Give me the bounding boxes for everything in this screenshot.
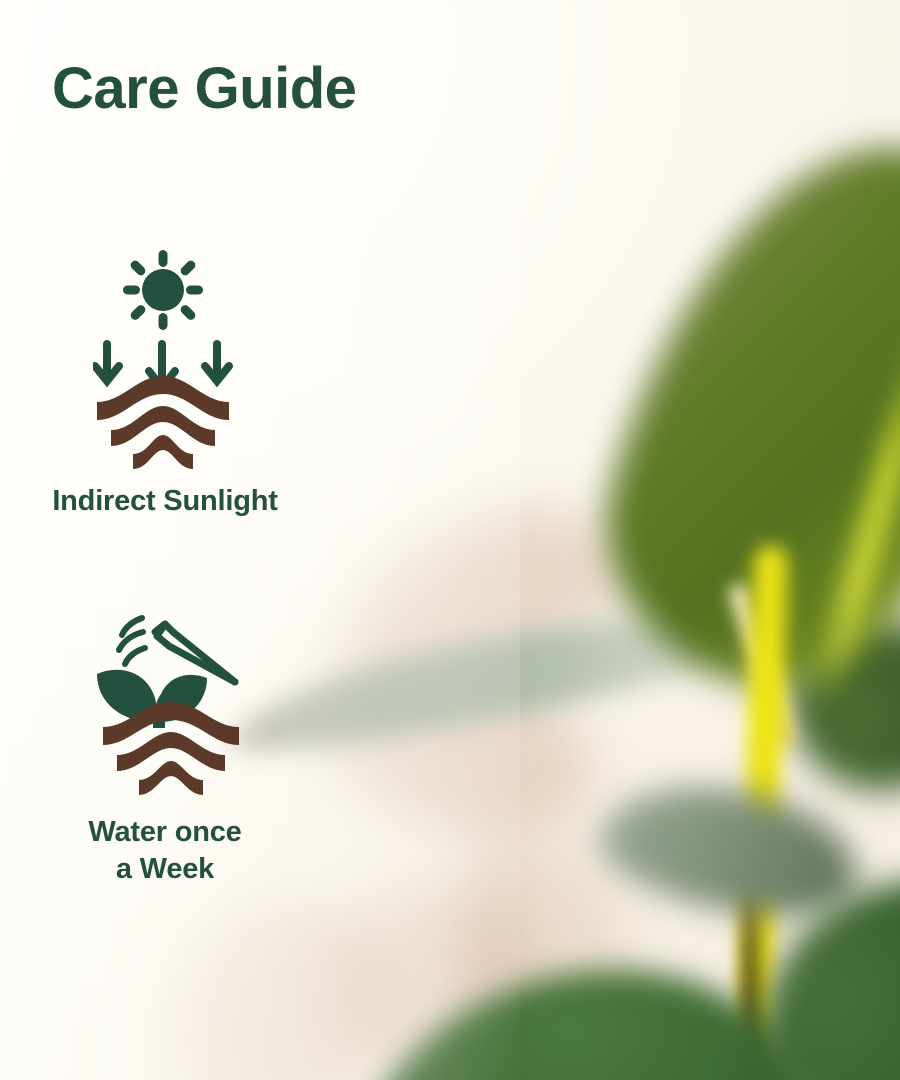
watering-spout-icon <box>155 624 235 682</box>
soil-wave-icon <box>133 435 193 469</box>
care-item-water-once-a-week: Water once a Week <box>0 610 330 888</box>
care-guide-content: Care Guide <box>0 0 900 1080</box>
care-item-label: Water once a Week <box>0 814 330 888</box>
down-arrow-icon <box>205 344 229 381</box>
sun-icon <box>123 250 203 330</box>
spray-line-icon <box>125 648 145 664</box>
soil-wave-icon <box>139 761 203 795</box>
down-arrow-icon <box>95 344 119 381</box>
care-item-label-line2: a Week <box>0 851 330 888</box>
page-title: Care Guide <box>52 60 356 118</box>
care-guide-card: Care Guide <box>0 0 900 1080</box>
care-item-label: Indirect Sunlight <box>0 483 330 520</box>
care-item-label-line1: Water once <box>0 814 330 851</box>
watering-sprout-icon <box>95 610 245 800</box>
care-item-indirect-sunlight: Indirect Sunlight <box>0 250 330 520</box>
sun-over-soil-icon <box>93 250 233 475</box>
